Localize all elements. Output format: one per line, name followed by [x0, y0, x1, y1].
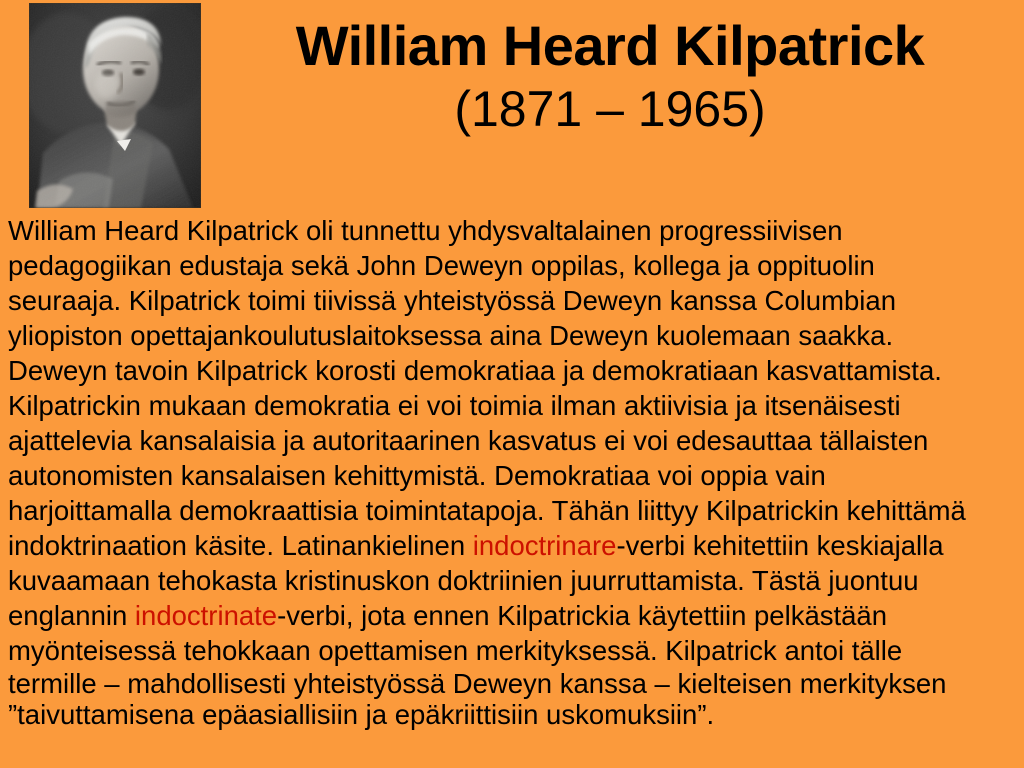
body-line: englannin indoctrinate-verbi, jota ennen… — [8, 598, 1016, 633]
body-text-run: William Heard Kilpatrick oli tunnettu yh… — [8, 215, 843, 246]
body-text-run: myönteisessä tehokkaan opettamisen merki… — [8, 635, 902, 666]
body-text-run: englannin — [8, 600, 135, 631]
highlighted-term: indoctrinare — [473, 530, 617, 561]
body-text-run: termille – mahdollisesti yhteistyössä De… — [8, 668, 946, 699]
body-text-run: harjoittamalla demokraattisia toimintata… — [8, 495, 966, 526]
body-line: harjoittamalla demokraattisia toimintata… — [8, 493, 1016, 528]
body-line: Kilpatrickin mukaan demokratia ei voi to… — [8, 388, 1016, 423]
body-text-run: ajattelevia kansalaisia ja autoritaarine… — [8, 425, 928, 456]
page-title: William Heard Kilpatrick — [210, 14, 1010, 78]
body-line: seuraaja. Kilpatrick toimi tiivissä yhte… — [8, 283, 1016, 318]
portrait-image — [29, 3, 201, 208]
body-text-run: -verbi kehitettiin keskiajalla — [616, 530, 943, 561]
body-text: William Heard Kilpatrick oli tunnettu yh… — [8, 213, 1016, 730]
body-text-run: pedagogiikan edustaja sekä John Deweyn o… — [8, 250, 875, 281]
body-text-run: ”taivuttamisena epäasiallisiin ja epäkri… — [8, 699, 714, 730]
title-block: William Heard Kilpatrick (1871 – 1965) — [210, 14, 1010, 140]
presentation-slide: William Heard Kilpatrick (1871 – 1965) W… — [0, 0, 1024, 768]
body-text-run: autonomisten kansalaisen kehittymistä. D… — [8, 460, 826, 491]
body-text-run: -verbi, jota ennen Kilpatrickia käytetti… — [277, 600, 887, 631]
body-line: termille – mahdollisesti yhteistyössä De… — [8, 668, 1016, 699]
body-text-run: yliopiston opettajankoulutuslaitoksessa … — [8, 320, 893, 351]
body-text-run: indoktrinaation käsite. Latinankielinen — [8, 530, 473, 561]
body-line: pedagogiikan edustaja sekä John Deweyn o… — [8, 248, 1016, 283]
body-line: yliopiston opettajankoulutuslaitoksessa … — [8, 318, 1016, 353]
body-line: autonomisten kansalaisen kehittymistä. D… — [8, 458, 1016, 493]
body-text-run: Deweyn tavoin Kilpatrick korosti demokra… — [8, 355, 942, 386]
body-text-run: seuraaja. Kilpatrick toimi tiivissä yhte… — [8, 285, 896, 316]
body-line: kuvaamaan tehokasta kristinuskon doktrii… — [8, 563, 1016, 598]
body-line: myönteisessä tehokkaan opettamisen merki… — [8, 633, 1016, 668]
body-line: William Heard Kilpatrick oli tunnettu yh… — [8, 213, 1016, 248]
highlighted-term: indoctrinate — [135, 600, 277, 631]
portrait-photo — [29, 3, 201, 208]
body-line: ajattelevia kansalaisia ja autoritaarine… — [8, 423, 1016, 458]
body-line: indoktrinaation käsite. Latinankielinen … — [8, 528, 1016, 563]
body-text-run: kuvaamaan tehokasta kristinuskon doktrii… — [8, 565, 919, 596]
body-text-run: Kilpatrickin mukaan demokratia ei voi to… — [8, 390, 901, 421]
body-line: Deweyn tavoin Kilpatrick korosti demokra… — [8, 353, 1016, 388]
body-line: ”taivuttamisena epäasiallisiin ja epäkri… — [8, 699, 1016, 730]
title-lifespan: (1871 – 1965) — [210, 78, 1010, 140]
